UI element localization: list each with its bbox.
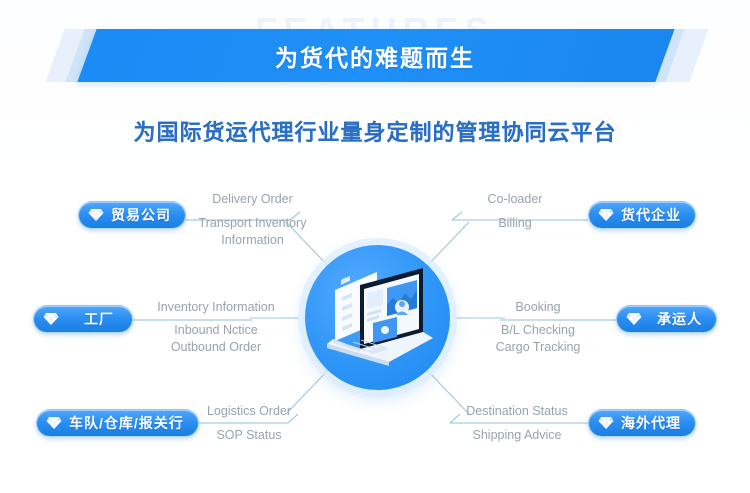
- desc-line: B/L Checking: [470, 322, 606, 339]
- desc-line: Inbound Nctice: [140, 322, 292, 339]
- desc-line: Inventory Information: [140, 299, 292, 316]
- node-desc-factory: Inventory Information: [140, 299, 292, 316]
- desc-line: Outbound Order: [140, 339, 292, 356]
- hub-circle: [305, 245, 450, 390]
- node-label: 海外代理: [621, 413, 681, 433]
- node-desc-trading-company-2: Transport Inventory Information: [185, 215, 320, 249]
- node-pill-carrier[interactable]: 承运人: [616, 305, 717, 333]
- node-desc-carrier: Booking: [470, 299, 606, 316]
- node-label: 车队/仓库/报关行: [69, 413, 184, 433]
- diamond-icon: [598, 208, 614, 222]
- node-label: 贸易公司: [111, 205, 171, 225]
- node-desc-fleet-2: SOP Status: [185, 427, 313, 444]
- desc-line: Destination Status: [448, 403, 586, 420]
- page-subtitle: 为国际货运代理行业量身定制的管理协同云平台: [0, 115, 750, 147]
- feature-diagram-page: FEATURES 为货代的难题而生 为国际货运代理行业量身定制的管理协同云平台: [0, 0, 750, 493]
- node-desc-trading-company: Delivery Order: [185, 191, 320, 208]
- node-label: 工厂: [84, 309, 114, 329]
- desc-line: Booking: [470, 299, 606, 316]
- node-desc-fleet: Logistics Order: [185, 403, 313, 420]
- node-desc-factory-2: Inbound Nctice Outbound Order: [140, 322, 292, 356]
- laptop-dashboard-icon: [305, 245, 450, 390]
- node-pill-overseas-agent[interactable]: 海外代理: [588, 409, 696, 437]
- node-desc-overseas-agent: Destination Status: [448, 403, 586, 420]
- node-pill-trading-company[interactable]: 贸易公司: [78, 201, 186, 229]
- desc-line: Shipping Advice: [448, 427, 586, 444]
- diamond-icon: [43, 312, 59, 326]
- node-desc-freight-forwarder-2: Billing: [452, 215, 578, 232]
- desc-line: SOP Status: [185, 427, 313, 444]
- diamond-icon: [46, 416, 62, 430]
- desc-line: Cargo Tracking: [470, 339, 606, 356]
- node-pill-freight-forwarder[interactable]: 货代企业: [588, 201, 696, 229]
- desc-line: Logistics Order: [185, 403, 313, 420]
- diamond-icon: [598, 416, 614, 430]
- banner-title: 为货代的难题而生: [55, 29, 695, 82]
- desc-line: Billing: [452, 215, 578, 232]
- desc-line: Information: [185, 232, 320, 249]
- banner: 为货代的难题而生: [55, 29, 695, 82]
- node-desc-carrier-2: B/L Checking Cargo Tracking: [470, 322, 606, 356]
- node-pill-fleet-warehouse-broker[interactable]: 车队/仓库/报关行: [36, 409, 199, 437]
- node-label: 货代企业: [621, 205, 681, 225]
- node-desc-freight-forwarder: Co-loader: [452, 191, 578, 208]
- node-label: 承运人: [657, 309, 702, 329]
- node-desc-overseas-agent-2: Shipping Advice: [448, 427, 586, 444]
- diamond-icon: [88, 208, 104, 222]
- desc-line: Transport Inventory: [185, 215, 320, 232]
- diamond-icon: [626, 312, 642, 326]
- node-pill-factory[interactable]: 工厂: [33, 305, 133, 333]
- desc-line: Delivery Order: [185, 191, 320, 208]
- desc-line: Co-loader: [452, 191, 578, 208]
